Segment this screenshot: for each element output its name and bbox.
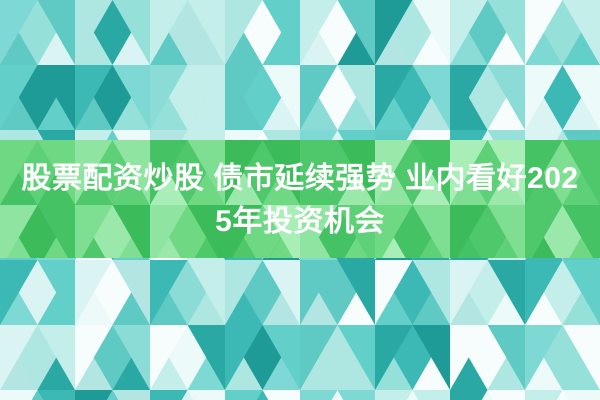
green-band-mosaic xyxy=(0,140,600,258)
green-band xyxy=(0,140,600,258)
banner: 股票配资炒股 债市延续强势 业内看好2025年投资机会 xyxy=(0,0,600,400)
